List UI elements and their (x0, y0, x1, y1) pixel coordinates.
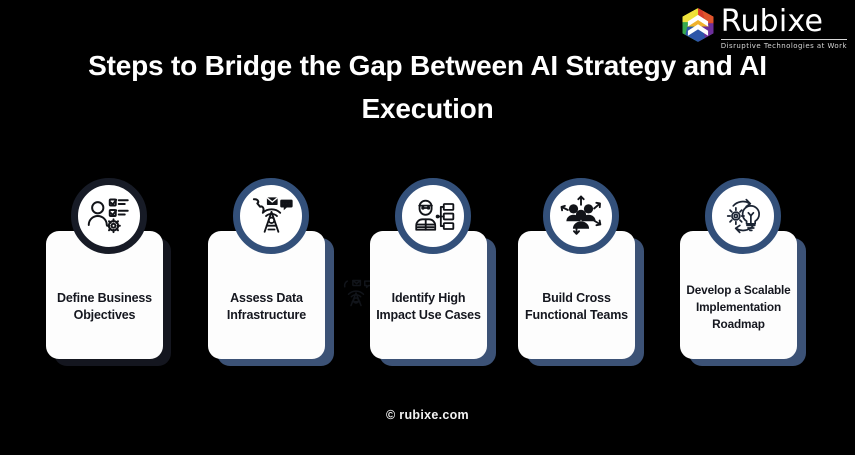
person-org-chart-icon (395, 178, 471, 254)
step-card-1[interactable]: Define Business Objectives (46, 178, 172, 373)
step-label: Assess Data Infrastructure (214, 290, 319, 324)
step-card-3[interactable]: Identify High Impact Use Cases (370, 178, 496, 373)
step-label: Build Cross Functional Teams (524, 290, 629, 324)
page-title: Steps to Bridge the Gap Between AI Strat… (50, 44, 805, 130)
step-card-5[interactable]: Develop a Scalable Implementation Roadma… (680, 178, 806, 373)
gear-lightbulb-cycle-icon (705, 178, 781, 254)
footer-copyright: © rubixe.com (0, 408, 855, 422)
step-label: Identify High Impact Use Cases (376, 290, 481, 324)
radio-tower-communication-icon (233, 178, 309, 254)
step-card-2[interactable]: Assess Data Infrastructure (208, 178, 334, 373)
brand-name: Rubixe (721, 6, 847, 38)
team-group-arrows-icon (543, 178, 619, 254)
steps-row: Define Business Objectives (0, 178, 855, 373)
logo-divider (721, 39, 847, 40)
rubixe-hexagon-logo-icon (680, 7, 716, 43)
person-checklist-gear-icon (71, 178, 147, 254)
step-label: Define Business Objectives (52, 290, 157, 324)
step-card-4[interactable]: Build Cross Functional Teams (518, 178, 644, 373)
infographic-canvas: Rubixe Disruptive Technologies at Work S… (0, 0, 855, 455)
step-label: Develop a Scalable Implementation Roadma… (686, 282, 791, 333)
